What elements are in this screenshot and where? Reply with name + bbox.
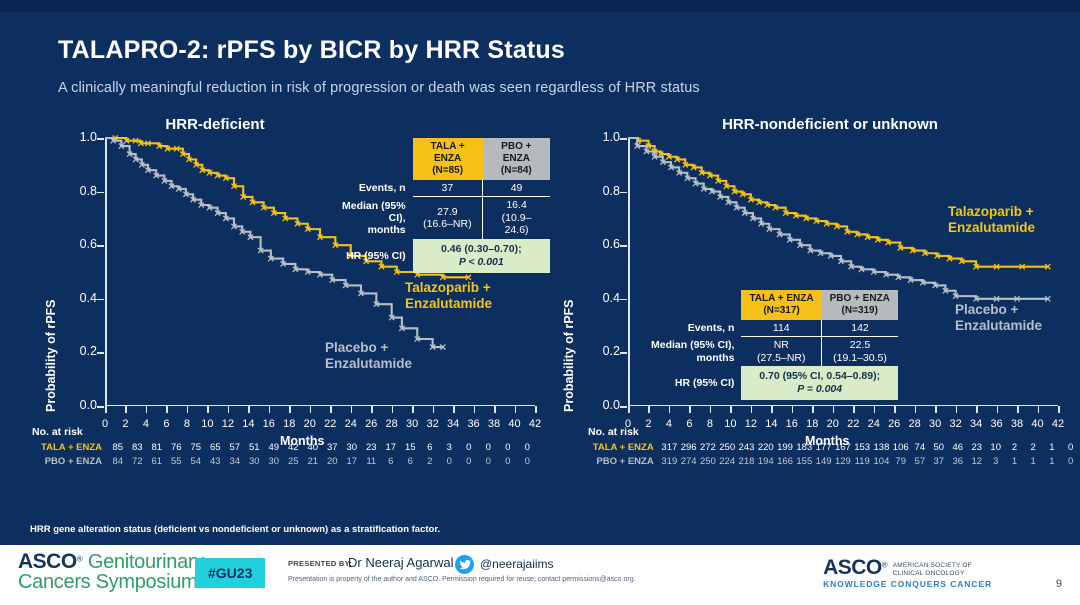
at-risk-row-tala: TALA + ENZA85838176756557514942403730231… bbox=[32, 441, 537, 455]
at-risk-value-pbo: 149 bbox=[814, 455, 833, 469]
x-tick bbox=[874, 406, 876, 413]
slide-footer: ASCO® Genitourinary Cancers Symposium #G… bbox=[0, 545, 1080, 605]
at-risk-value-pbo: 79 bbox=[891, 455, 910, 469]
stats-table: TALA + ENZA(N=317) PBO + ENZA(N=319) Eve… bbox=[650, 290, 898, 400]
y-tick bbox=[97, 299, 104, 301]
y-tick bbox=[97, 406, 104, 408]
at-risk-value-tala: 85 bbox=[108, 441, 128, 455]
at-risk-value-tala: 83 bbox=[128, 441, 148, 455]
at-risk-value-tala: 15 bbox=[401, 441, 421, 455]
y-tick-label: 0.6 bbox=[63, 237, 97, 251]
slide-root: TALAPRO-2: rPFS by BICR by HRR Status A … bbox=[0, 0, 1080, 605]
at-risk-value-pbo: 20 bbox=[323, 455, 343, 469]
x-tick bbox=[976, 406, 978, 413]
page-number: 9 bbox=[1056, 578, 1062, 590]
stats-label-events: Events, n bbox=[650, 320, 741, 337]
at-risk-value-pbo: 224 bbox=[718, 455, 737, 469]
stats-row-median: Median (95% CI), months NR(27.5–NR) 22.5… bbox=[650, 337, 898, 366]
at-risk-value-pbo: 54 bbox=[186, 455, 206, 469]
y-tick-label: 0.8 bbox=[586, 184, 620, 198]
stats-events-pbo: 142 bbox=[822, 320, 898, 337]
x-tick bbox=[330, 406, 332, 413]
presenter-name: Dr Neeraj Agarwal bbox=[348, 555, 454, 570]
at-risk-value-tala: 199 bbox=[775, 441, 794, 455]
at-risk-label-pbo: PBO + ENZA bbox=[588, 455, 660, 469]
stats-header-spacer bbox=[650, 290, 741, 320]
y-tick bbox=[620, 192, 627, 194]
stats-median-tala: NR(27.5–NR) bbox=[741, 337, 821, 366]
at-risk-value-pbo: 21 bbox=[303, 455, 323, 469]
stats-header-tala: TALA + ENZA(N=317) bbox=[741, 290, 821, 320]
x-tick bbox=[166, 406, 168, 413]
y-tick-label: 0.0 bbox=[63, 398, 97, 412]
x-tick bbox=[392, 406, 394, 413]
at-risk-value-tala: 0 bbox=[459, 441, 479, 455]
at-risk-value-pbo: 36 bbox=[948, 455, 967, 469]
at-risk-value-tala: 30 bbox=[342, 441, 362, 455]
at-risk-table: TALA + ENZA31729627225024322019918317716… bbox=[588, 441, 1080, 470]
at-risk-value-tala: 6 bbox=[420, 441, 440, 455]
at-risk-value-pbo: 57 bbox=[910, 455, 929, 469]
x-tick bbox=[433, 406, 435, 413]
x-tick bbox=[997, 406, 999, 413]
y-tick bbox=[97, 138, 104, 140]
at-risk-value-tala: 74 bbox=[910, 441, 929, 455]
survival-curve bbox=[628, 138, 1048, 267]
stats-hr-value: 0.70 (95% CI, 0.54–0.89);P = 0.004 bbox=[741, 366, 897, 400]
at-risk-value-tala: 272 bbox=[698, 441, 717, 455]
stats-header-pbo: PBO + ENZA(N=319) bbox=[822, 290, 898, 320]
stats-row-hr: HR (95% CI) 0.46 (0.30–0.70);P < 0.001 bbox=[335, 239, 550, 273]
permission-text: Presentation is property of the author a… bbox=[288, 576, 636, 583]
at-risk-value-tala: 177 bbox=[814, 441, 833, 455]
x-tick bbox=[515, 406, 517, 413]
y-tick bbox=[97, 245, 104, 247]
at-risk-value-pbo: 319 bbox=[660, 455, 679, 469]
at-risk-value-pbo: 17 bbox=[342, 455, 362, 469]
at-risk-value-tala: 23 bbox=[967, 441, 986, 455]
at-risk-value-pbo: 34 bbox=[225, 455, 245, 469]
at-risk-value-tala: 40 bbox=[303, 441, 323, 455]
at-risk-value-pbo: 30 bbox=[245, 455, 265, 469]
chart-title-right: HRR-nondeficient or unknown bbox=[580, 116, 1080, 133]
y-axis-label-left: Probability of rPFS bbox=[44, 299, 58, 412]
stats-header-tala: TALA + ENZA(N=85) bbox=[413, 138, 483, 180]
at-risk-value-tala: 296 bbox=[679, 441, 698, 455]
x-tick bbox=[310, 406, 312, 413]
x-tick bbox=[710, 406, 712, 413]
at-risk-value-pbo: 61 bbox=[147, 455, 167, 469]
twitter-icon[interactable] bbox=[455, 555, 474, 574]
x-tick bbox=[1058, 406, 1060, 413]
x-tick bbox=[628, 406, 630, 413]
x-tick bbox=[956, 406, 958, 413]
at-risk-value-tala: 2 bbox=[1005, 441, 1024, 455]
x-tick bbox=[751, 406, 753, 413]
at-risk-value-tala: 65 bbox=[206, 441, 226, 455]
at-risk-value-tala: 75 bbox=[186, 441, 206, 455]
x-tick bbox=[833, 406, 835, 413]
stats-row-events: Events, n 37 49 bbox=[335, 180, 550, 197]
at-risk-value-pbo: 84 bbox=[108, 455, 128, 469]
asco-right-wordmark: ASCO bbox=[823, 556, 882, 580]
at-risk-value-pbo: 1 bbox=[1024, 455, 1043, 469]
x-tick bbox=[228, 406, 230, 413]
at-risk-value-tala: 317 bbox=[660, 441, 679, 455]
stats-median-pbo: 16.4(10.9–24.6) bbox=[483, 197, 550, 239]
y-axis-label-right: Probability of rPFS bbox=[562, 299, 576, 412]
y-tick-label: 0.8 bbox=[63, 184, 97, 198]
stats-hr-value: 0.46 (0.30–0.70);P < 0.001 bbox=[413, 239, 550, 273]
at-risk-value-pbo: 6 bbox=[381, 455, 401, 469]
hashtag-badge[interactable]: #GU23 bbox=[195, 558, 265, 588]
stats-row-median: Median (95% CI), months 27.9(16.6–NR) 16… bbox=[335, 197, 550, 239]
x-tick bbox=[535, 406, 537, 413]
stats-header-pbo: PBO + ENZA(N=84) bbox=[483, 138, 550, 180]
twitter-handle[interactable]: @neerajaiims bbox=[480, 557, 554, 571]
x-tick bbox=[730, 406, 732, 413]
at-risk-value-tala: 243 bbox=[737, 441, 756, 455]
at-risk-value-pbo: 194 bbox=[756, 455, 775, 469]
stats-events-pbo: 49 bbox=[483, 180, 550, 197]
at-risk-value-pbo: 30 bbox=[264, 455, 284, 469]
y-tick-label: 1.0 bbox=[586, 130, 620, 144]
x-tick bbox=[792, 406, 794, 413]
at-risk-value-tala: 76 bbox=[167, 441, 187, 455]
page-subtitle: A clinically meaningful reduction in ris… bbox=[58, 80, 700, 96]
at-risk-row-tala: TALA + ENZA31729627225024322019918317716… bbox=[588, 441, 1080, 455]
at-risk-value-tala: 51 bbox=[245, 441, 265, 455]
at-risk-value-tala: 106 bbox=[891, 441, 910, 455]
at-risk-value-tala: 1 bbox=[1043, 441, 1062, 455]
stats-table-right: TALA + ENZA(N=317) PBO + ENZA(N=319) Eve… bbox=[650, 290, 898, 400]
at-risk-value-pbo: 0 bbox=[1061, 455, 1080, 469]
y-tick bbox=[620, 352, 627, 354]
at-risk-row-pbo: PBO + ENZA319274250224218194166155149129… bbox=[588, 455, 1080, 469]
at-risk-value-tala: 50 bbox=[929, 441, 948, 455]
at-risk-value-pbo: 25 bbox=[284, 455, 304, 469]
y-tick bbox=[97, 192, 104, 194]
stats-header-spacer bbox=[335, 138, 413, 180]
at-risk-label-tala: TALA + ENZA bbox=[588, 441, 660, 455]
at-risk-value-tala: 46 bbox=[948, 441, 967, 455]
x-tick bbox=[853, 406, 855, 413]
at-risk-value-tala: 10 bbox=[986, 441, 1005, 455]
y-tick-label: 0.0 bbox=[586, 398, 620, 412]
x-tick bbox=[935, 406, 937, 413]
y-tick bbox=[97, 352, 104, 354]
asco-gu-line2: Cancers Symposium bbox=[18, 572, 204, 594]
at-risk-value-pbo: 0 bbox=[459, 455, 479, 469]
y-tick-label: 1.0 bbox=[63, 130, 97, 144]
at-risk-value-tala: 0 bbox=[518, 441, 538, 455]
at-risk-value-tala: 3 bbox=[440, 441, 460, 455]
stats-row-hr: HR (95% CI) 0.70 (95% CI, 0.54–0.89);P =… bbox=[650, 366, 898, 400]
curve-label-talazoparib-left: Talazoparib +Enzalutamide bbox=[405, 280, 492, 312]
at-risk-value-tala: 220 bbox=[756, 441, 775, 455]
at-risk-value-pbo: 1 bbox=[1043, 455, 1062, 469]
stats-median-pbo: 22.5(19.1–30.5) bbox=[822, 337, 898, 366]
x-tick bbox=[412, 406, 414, 413]
y-tick-label: 0.6 bbox=[586, 237, 620, 251]
y-tick bbox=[620, 245, 627, 247]
at-risk-value-pbo: 11 bbox=[362, 455, 382, 469]
y-tick-label: 0.4 bbox=[63, 291, 97, 305]
at-risk-value-tala: 250 bbox=[718, 441, 737, 455]
asco-tagline: KNOWLEDGE CONQUERS CANCER bbox=[823, 579, 992, 589]
at-risk-label-pbo: PBO + ENZA bbox=[32, 455, 108, 469]
at-risk-value-pbo: 43 bbox=[206, 455, 226, 469]
x-tick bbox=[771, 406, 773, 413]
x-tick bbox=[474, 406, 476, 413]
x-tick bbox=[915, 406, 917, 413]
x-tick bbox=[105, 406, 107, 413]
at-risk-value-pbo: 0 bbox=[479, 455, 499, 469]
asco-right-sub-line1: AMERICAN SOCIETY OF bbox=[893, 562, 972, 569]
y-tick bbox=[620, 299, 627, 301]
at-risk-value-pbo: 218 bbox=[737, 455, 756, 469]
x-tick bbox=[894, 406, 896, 413]
asco-right-registered-mark: ® bbox=[882, 561, 888, 570]
x-tick bbox=[248, 406, 250, 413]
x-tick bbox=[648, 406, 650, 413]
curve-label-talazoparib-right: Talazoparib +Enzalutamide bbox=[948, 204, 1035, 236]
at-risk-value-tala: 49 bbox=[264, 441, 284, 455]
y-tick-label: 0.4 bbox=[586, 291, 620, 305]
x-tick bbox=[207, 406, 209, 413]
x-tick bbox=[146, 406, 148, 413]
asco-logo-right: ASCO®AMERICAN SOCIETY OFCLINICAL ONCOLOG… bbox=[823, 556, 992, 589]
at-risk-header: No. at risk bbox=[588, 426, 1080, 438]
stats-events-tala: 37 bbox=[413, 180, 483, 197]
x-tick bbox=[125, 406, 127, 413]
at-risk-value-pbo: 6 bbox=[401, 455, 421, 469]
chart-panel-hrr-nondeficient: HRR-nondeficient or unknown Probability … bbox=[560, 112, 1075, 462]
asco-gu-line1: Genitourinary bbox=[83, 551, 204, 573]
stats-row-events: Events, n 114 142 bbox=[650, 320, 898, 337]
at-risk-value-pbo: 250 bbox=[698, 455, 717, 469]
curve-label-placebo-left: Placebo +Enzalutamide bbox=[325, 340, 412, 372]
at-risk-value-tala: 153 bbox=[853, 441, 872, 455]
at-risk-table: TALA + ENZA85838176756557514942403730231… bbox=[32, 441, 537, 470]
at-risk-value-tala: 57 bbox=[225, 441, 245, 455]
at-risk-value-pbo: 0 bbox=[518, 455, 538, 469]
asco-right-subtitle: AMERICAN SOCIETY OFCLINICAL ONCOLOGY bbox=[893, 562, 972, 578]
stats-events-tala: 114 bbox=[741, 320, 821, 337]
y-tick-label: 0.2 bbox=[63, 344, 97, 358]
stats-header-row: TALA + ENZA(N=85) PBO + ENZA(N=84) bbox=[335, 138, 550, 180]
stats-label-median: Median (95% CI), months bbox=[650, 337, 741, 366]
at-risk-value-tala: 2 bbox=[1024, 441, 1043, 455]
stats-label-hr: HR (95% CI) bbox=[335, 239, 413, 273]
at-risk-value-tala: 0 bbox=[1061, 441, 1080, 455]
at-risk-value-tala: 42 bbox=[284, 441, 304, 455]
at-risk-value-pbo: 72 bbox=[128, 455, 148, 469]
at-risk-value-tala: 138 bbox=[872, 441, 891, 455]
x-tick bbox=[494, 406, 496, 413]
stats-median-tala: 27.9(16.6–NR) bbox=[413, 197, 483, 239]
x-tick bbox=[1017, 406, 1019, 413]
at-risk-value-pbo: 37 bbox=[929, 455, 948, 469]
x-tick bbox=[453, 406, 455, 413]
stats-table: TALA + ENZA(N=85) PBO + ENZA(N=84) Event… bbox=[335, 138, 550, 273]
at-risk-value-pbo: 166 bbox=[775, 455, 794, 469]
stats-label-events: Events, n bbox=[335, 180, 413, 197]
top-band bbox=[0, 0, 1080, 12]
x-tick bbox=[689, 406, 691, 413]
y-tick bbox=[620, 406, 627, 408]
at-risk-value-pbo: 129 bbox=[833, 455, 852, 469]
x-tick bbox=[351, 406, 353, 413]
chart-panel-hrr-deficient: HRR-deficient Probability of rPFS 0.00.2… bbox=[30, 112, 550, 462]
x-tick bbox=[289, 406, 291, 413]
asco-wordmark: ASCO bbox=[18, 550, 77, 573]
asco-right-sub-line2: CLINICAL ONCOLOGY bbox=[893, 570, 965, 577]
at-risk-value-tala: 183 bbox=[795, 441, 814, 455]
at-risk-value-pbo: 0 bbox=[440, 455, 460, 469]
at-risk-value-tala: 37 bbox=[323, 441, 343, 455]
at-risk-value-pbo: 155 bbox=[795, 455, 814, 469]
stats-table-left: TALA + ENZA(N=85) PBO + ENZA(N=84) Event… bbox=[335, 138, 550, 273]
at-risk-header: No. at risk bbox=[32, 426, 537, 438]
x-tick bbox=[187, 406, 189, 413]
x-tick bbox=[669, 406, 671, 413]
at-risk-value-tala: 0 bbox=[479, 441, 499, 455]
at-risk-table-right: No. at risk TALA + ENZA31729627225024322… bbox=[588, 426, 1080, 470]
at-risk-row-pbo: PBO + ENZA847261555443343030252120171166… bbox=[32, 455, 537, 469]
at-risk-value-pbo: 1 bbox=[1005, 455, 1024, 469]
curve-label-placebo-right: Placebo +Enzalutamide bbox=[955, 302, 1042, 334]
at-risk-value-pbo: 55 bbox=[167, 455, 187, 469]
x-tick bbox=[269, 406, 271, 413]
at-risk-value-pbo: 2 bbox=[420, 455, 440, 469]
at-risk-value-tala: 23 bbox=[362, 441, 382, 455]
stats-label-median: Median (95% CI), months bbox=[335, 197, 413, 239]
at-risk-value-tala: 0 bbox=[498, 441, 518, 455]
at-risk-value-pbo: 119 bbox=[853, 455, 872, 469]
at-risk-label-tala: TALA + ENZA bbox=[32, 441, 108, 455]
at-risk-value-tala: 81 bbox=[147, 441, 167, 455]
page-title: TALAPRO-2: rPFS by BICR by HRR Status bbox=[58, 36, 565, 65]
at-risk-value-tala: 17 bbox=[381, 441, 401, 455]
x-tick bbox=[371, 406, 373, 413]
y-tick bbox=[620, 138, 627, 140]
at-risk-value-tala: 167 bbox=[833, 441, 852, 455]
at-risk-value-pbo: 3 bbox=[986, 455, 1005, 469]
footnote: HRR gene alteration status (deficient vs… bbox=[30, 524, 440, 535]
stats-header-row: TALA + ENZA(N=317) PBO + ENZA(N=319) bbox=[650, 290, 898, 320]
x-tick bbox=[1038, 406, 1040, 413]
at-risk-value-pbo: 104 bbox=[872, 455, 891, 469]
at-risk-value-pbo: 12 bbox=[967, 455, 986, 469]
x-tick bbox=[812, 406, 814, 413]
asco-gu-logo: ASCO® Genitourinary Cancers Symposium bbox=[18, 551, 204, 593]
at-risk-value-pbo: 274 bbox=[679, 455, 698, 469]
y-tick-label: 0.2 bbox=[586, 344, 620, 358]
at-risk-value-pbo: 0 bbox=[498, 455, 518, 469]
at-risk-table-left: No. at risk TALA + ENZA85838176756557514… bbox=[32, 426, 537, 470]
presented-by-label: PRESENTED BY: bbox=[288, 559, 352, 568]
stats-label-hr: HR (95% CI) bbox=[650, 366, 741, 400]
